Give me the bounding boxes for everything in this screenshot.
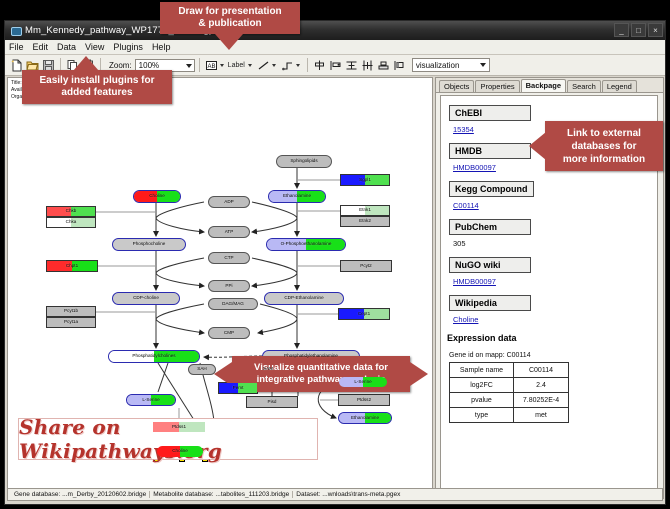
metabolite-node-dag-mag[interactable]: DAG/MAG (208, 298, 258, 310)
cell-value: C00114 (514, 363, 569, 378)
cell-key: type (450, 408, 514, 423)
node-label: Pcyt2 (360, 264, 372, 269)
label-dropdown-icon[interactable] (248, 64, 252, 67)
table-row: Sample name C00114 (450, 363, 569, 378)
node-label: Sphingolipids (290, 159, 317, 164)
window-controls: _ □ × (614, 23, 663, 37)
node-label: Chpt1 (66, 264, 78, 269)
toolbar-separator-4 (307, 58, 308, 72)
metabolite-node-l-serine-left[interactable]: L-Serine (126, 394, 176, 406)
node-label: Ethanolamine (283, 194, 311, 199)
db-name-kegg: Kegg Compound (449, 181, 534, 197)
node-label: ATP (225, 230, 234, 235)
node-label: L-Serine (142, 398, 159, 403)
metabolite-node-ethanolamine-bottom[interactable]: Ethanolamine (338, 412, 392, 424)
callout-link-line2: databases for (571, 140, 636, 153)
node-label: SAM (263, 367, 273, 372)
node-label: Phosphatidylethanolamine (284, 354, 338, 359)
db-block-nugo: NuGO wiki HMDB00097 (449, 255, 657, 286)
gene-node-etnk1[interactable]: Etnk1 (340, 205, 390, 216)
node-label: CMP (224, 331, 234, 336)
menu-data[interactable]: Data (57, 42, 76, 52)
app-screenshot: Mm_Kennedy_pathway_WP1771_45176.gpml _ □… (0, 0, 670, 509)
gene-node-cept1[interactable]: Cept1 (338, 308, 390, 320)
metabolite-node-phosphatidylcholines[interactable]: Phosphatidylcholines (108, 350, 200, 363)
node-label: PPi (225, 284, 232, 289)
db-link-wikipedia[interactable]: Choline (453, 315, 657, 324)
callout-draw-arrow-icon (215, 34, 243, 50)
align-center-icon[interactable] (312, 58, 327, 73)
visualization-value: visualization (416, 61, 460, 70)
node-label: Etnk1 (359, 208, 371, 213)
db-block-pubchem: PubChem 305 (449, 217, 657, 248)
gene-node-pcyt2[interactable]: Pcyt2 (340, 260, 392, 272)
text-format-dropdown-icon[interactable] (220, 64, 224, 67)
node-label: Phosphocholine (133, 242, 166, 247)
metabolite-node-cdp-ethanolamine[interactable]: CDP-Ethanolamine (264, 292, 344, 305)
node-label: Ethanolamine (351, 416, 379, 421)
metabolite-node-choline-selected[interactable]: Choline (156, 445, 204, 458)
callout-plugins-line2: added features (61, 87, 132, 99)
db-name-nugo: NuGO wiki (449, 257, 531, 273)
status-dataset: Dataset: ...wnloads\trans-meta.pgex (292, 491, 400, 498)
callout-draw-line1: Draw for presentation (178, 6, 281, 18)
callout-plugins-line1: Easily install plugins for (39, 75, 154, 87)
node-label: O-Phosphoethanolamine (281, 242, 332, 247)
table-row: log2FC 2.4 (450, 378, 569, 393)
connector-dropdown-icon[interactable] (296, 64, 300, 67)
metabolite-node-adp[interactable]: ADP (208, 196, 250, 208)
node-label: ADP (224, 200, 233, 205)
callout-visualize-line1: Visualize quantitative data for (254, 362, 388, 374)
distribute-vertical-icon[interactable] (344, 58, 359, 73)
db-name-hmdb: HMDB (449, 143, 531, 159)
status-gene-database: Gene database: ...m_Derby_20120602.bridg… (11, 491, 146, 498)
callout-visualize-stem-left (228, 368, 234, 380)
db-value-pubchem: 305 (453, 239, 657, 248)
group-icon[interactable] (376, 58, 391, 73)
gene-node-pcyt1b[interactable]: Pcyt1b (46, 306, 96, 317)
chevron-down-icon (186, 64, 192, 68)
db-block-kegg: Kegg Compound C00114 (449, 179, 657, 210)
db-name-chebi: ChEBI (449, 105, 531, 121)
metabolite-node-choline-top[interactable]: Choline (133, 190, 181, 203)
metabolite-node-atp[interactable]: ATP (208, 226, 250, 238)
callout-plugins-arrow-icon (73, 56, 99, 71)
metabolite-node-sphingolipids[interactable]: Sphingolipids (276, 155, 332, 168)
node-label: CTP (224, 256, 233, 261)
node-label: CDP-Ethanolamine (284, 296, 323, 301)
node-label: Ptdss2 (357, 398, 371, 403)
metabolite-node-phosphocholine[interactable]: Phosphocholine (112, 238, 186, 251)
node-label: Choline (149, 194, 165, 199)
callout-draw: Draw for presentation & publication (160, 2, 300, 34)
menu-bar: File Edit Data View Plugins Help (5, 40, 665, 55)
menu-plugins[interactable]: Plugins (113, 42, 143, 52)
node-label: Ptdss1 (172, 425, 186, 430)
gene-node-pemt[interactable]: Pemt (218, 382, 258, 394)
callout-plugins: Easily install plugins for added feature… (22, 70, 172, 104)
maximize-button[interactable]: □ (631, 23, 646, 37)
tab-properties[interactable]: Properties (475, 80, 519, 92)
app-icon (10, 25, 21, 36)
zoom-value: 100% (139, 61, 159, 70)
gene-node-pcyt1a[interactable]: Pcyt1a (46, 317, 96, 328)
gene-id-line: Gene id on mapp: C00114 (449, 352, 657, 359)
minimize-button[interactable]: _ (614, 23, 629, 37)
gene-node-chka[interactable]: Chka (46, 217, 96, 228)
expression-data-heading: Expression data (447, 333, 657, 343)
menu-file[interactable]: File (9, 42, 24, 52)
callout-link-line3: more information (563, 153, 645, 166)
label-tool-label: Label (228, 62, 245, 69)
node-label: Pcyt1b (64, 309, 78, 314)
metabolite-node-l-serine-right[interactable]: L-Serine (338, 376, 388, 388)
gene-node-ptdss1[interactable]: Ptdss1 (152, 421, 206, 433)
gene-node-sgpl1[interactable]: Sgpl1 (340, 174, 390, 186)
node-label: Chkb (66, 209, 77, 214)
tab-objects[interactable]: Objects (439, 80, 474, 92)
metabolite-node-ethanolamine-top[interactable]: Ethanolamine (268, 190, 326, 203)
zoom-label: Zoom: (109, 61, 132, 70)
callout-link-line1: Link to external (567, 127, 641, 140)
cell-key: Sample name (450, 363, 514, 378)
db-block-wikipedia: Wikipedia Choline (449, 293, 657, 324)
node-label: DAG/MAG (222, 302, 244, 307)
metabolite-node-ctp[interactable]: CTP (208, 252, 250, 264)
gene-node-ptdss2[interactable]: Ptdss2 (338, 394, 390, 406)
align-left-icon[interactable] (328, 58, 343, 73)
chevron-down-icon-2 (480, 63, 486, 67)
db-name-pubchem: PubChem (449, 219, 531, 235)
tab-backpage[interactable]: Backpage (521, 79, 566, 92)
distribute-horizontal-icon[interactable] (360, 58, 375, 73)
cell-key: log2FC (450, 378, 514, 393)
svg-text:AB: AB (207, 64, 215, 70)
metabolite-node-cmp[interactable]: CMP (208, 327, 250, 339)
line-icon[interactable] (256, 58, 271, 73)
expression-table: Sample name C00114 log2FC 2.4 pvalue 7.8… (449, 362, 569, 423)
line-dropdown-icon[interactable] (272, 64, 276, 67)
callout-visualize-stem-right (406, 368, 412, 380)
node-label: Cept1 (358, 312, 370, 317)
gene-node-chpt1[interactable]: Chpt1 (46, 260, 98, 272)
status-bar: Gene database: ...m_Derby_20120602.bridg… (7, 488, 663, 501)
metabolite-node-cdp-choline[interactable]: CDP-choline (112, 292, 180, 305)
db-link-nugo[interactable]: HMDB00097 (453, 277, 657, 286)
node-label: CDP-choline (133, 296, 159, 301)
menu-view[interactable]: View (85, 42, 104, 52)
callout-draw-line2: & publication (198, 18, 261, 30)
cell-key: pvalue (450, 393, 514, 408)
cell-value: 7.80252E-4 (514, 393, 569, 408)
status-metabolite-database: Metabolite database: ...tabolites_111203… (149, 491, 289, 498)
node-label: Choline (172, 449, 188, 454)
gene-node-pisd[interactable]: Pisd (246, 396, 298, 408)
callout-link-arrow-stem (544, 138, 548, 154)
node-label: SAH (197, 367, 206, 372)
visualization-combobox[interactable]: visualization (412, 58, 490, 72)
metabolite-node-sah[interactable]: SAH (188, 364, 216, 375)
tab-legend[interactable]: Legend (602, 80, 637, 92)
gene-node-etnk2[interactable]: Etnk2 (340, 216, 390, 227)
db-link-kegg[interactable]: C00114 (453, 201, 657, 210)
menu-edit[interactable]: Edit (33, 42, 49, 52)
node-label: Pcyt1a (64, 320, 78, 325)
metabolite-node-ppi[interactable]: PPi (208, 280, 250, 292)
node-label: Phosphatidylcholines (132, 354, 175, 359)
node-label: Pisd (268, 400, 277, 405)
close-button[interactable]: × (648, 23, 663, 37)
callout-visualize-arrow-right-icon (410, 362, 428, 386)
cell-value: met (514, 408, 569, 423)
menu-help[interactable]: Help (152, 42, 171, 52)
metabolite-node-o-phosphoethanolamine[interactable]: O-Phosphoethanolamine (266, 238, 346, 251)
gene-node-chkb[interactable]: Chkb (46, 206, 96, 217)
connector-icon[interactable] (280, 58, 295, 73)
node-label: L-Serine (354, 380, 371, 385)
text-format-icon[interactable]: AB (204, 58, 219, 73)
bring-front-icon[interactable] (392, 58, 407, 73)
node-label: Sgpl1 (359, 178, 371, 183)
db-name-wikipedia: Wikipedia (449, 295, 531, 311)
table-row: pvalue 7.80252E-4 (450, 393, 569, 408)
title-bar: Mm_Kennedy_pathway_WP1771_45176.gpml _ □… (5, 21, 665, 40)
tab-search[interactable]: Search (567, 80, 601, 92)
toolbar-separator-3 (199, 58, 200, 72)
cell-value: 2.4 (514, 378, 569, 393)
table-row: type met (450, 408, 569, 423)
side-panel-tabs: Objects Properties Backpage Search Legen… (436, 78, 663, 93)
node-label: Etnk2 (359, 219, 371, 224)
callout-link-databases: Link to external databases for more info… (545, 121, 663, 171)
node-label: Chka (66, 220, 77, 225)
node-label: Pemt (233, 386, 244, 391)
